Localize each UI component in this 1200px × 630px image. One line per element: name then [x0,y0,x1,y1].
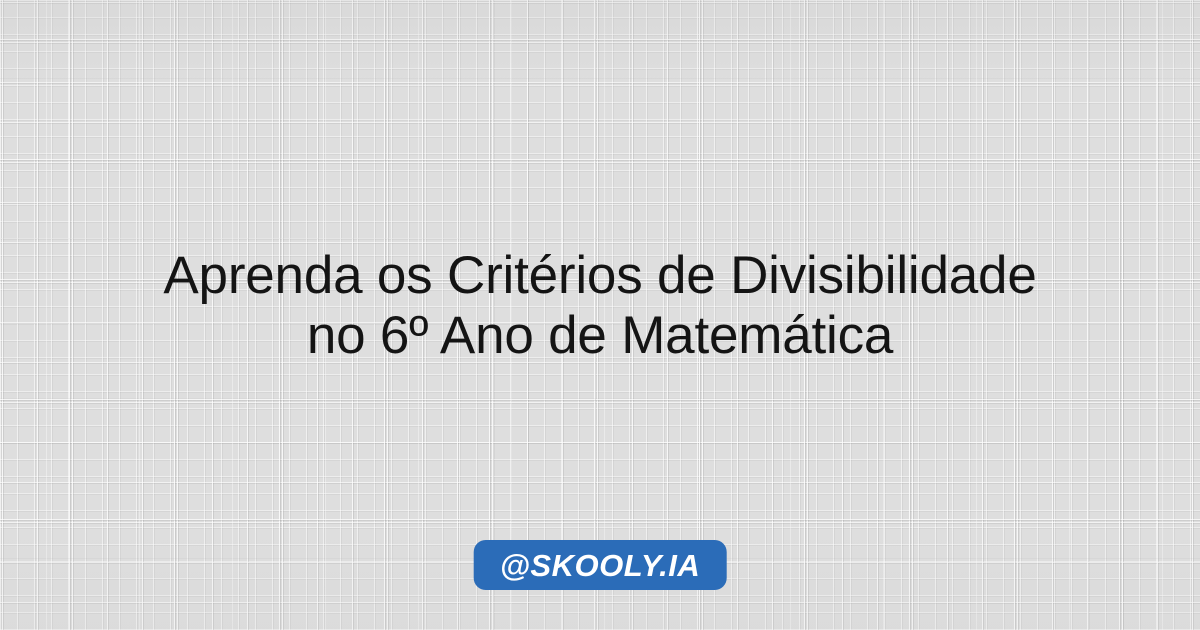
handle-badge: @SKOOLY.IA [474,540,727,590]
title-line-1: Aprenda os Critérios de Divisibilidade [30,246,1170,306]
page-title: Aprenda os Critérios de Divisibilidade n… [0,246,1200,366]
handle-badge-label: @SKOOLY.IA [500,550,701,581]
title-card: Aprenda os Critérios de Divisibilidade n… [0,0,1200,630]
title-line-2: no 6º Ano de Matemática [30,306,1170,366]
